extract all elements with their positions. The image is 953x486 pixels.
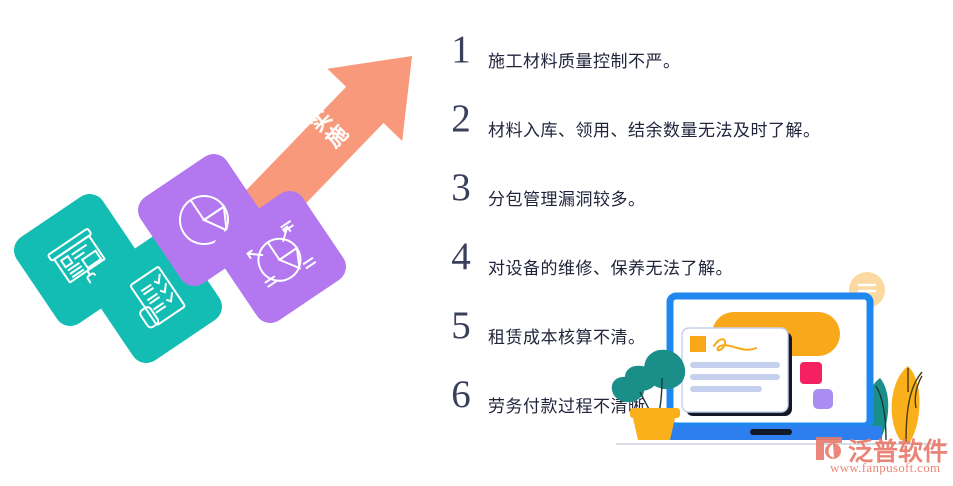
left-graphic-group: 项目实施 (0, 0, 440, 400)
issue-number: 4 (444, 237, 478, 276)
issue-number: 2 (444, 99, 478, 138)
issue-number: 5 (444, 306, 478, 345)
issue-number: 1 (444, 30, 478, 69)
watermark-url: www.fanpusoft.com (830, 460, 940, 476)
issue-number: 6 (444, 375, 478, 414)
issue-number: 3 (444, 168, 478, 207)
issue-text: 材料入库、领用、结余数量无法及时了解。 (488, 116, 821, 141)
list-item: 3 分包管理漏洞较多。 (442, 172, 912, 241)
issue-text: 施工材料质量控制不严。 (488, 47, 681, 72)
watermark-logo: 泛普软件 www.fanpusoft.com (812, 432, 952, 482)
slide-canvas: 项目实施 (0, 0, 953, 486)
pie-chart-arrows-icon (234, 211, 326, 303)
list-item: 2 材料入库、领用、结余数量无法及时了解。 (442, 103, 912, 172)
issue-text: 分包管理漏洞较多。 (488, 185, 646, 210)
screen-content (682, 312, 840, 416)
list-item: 1 施工材料质量控制不严。 (442, 34, 912, 103)
